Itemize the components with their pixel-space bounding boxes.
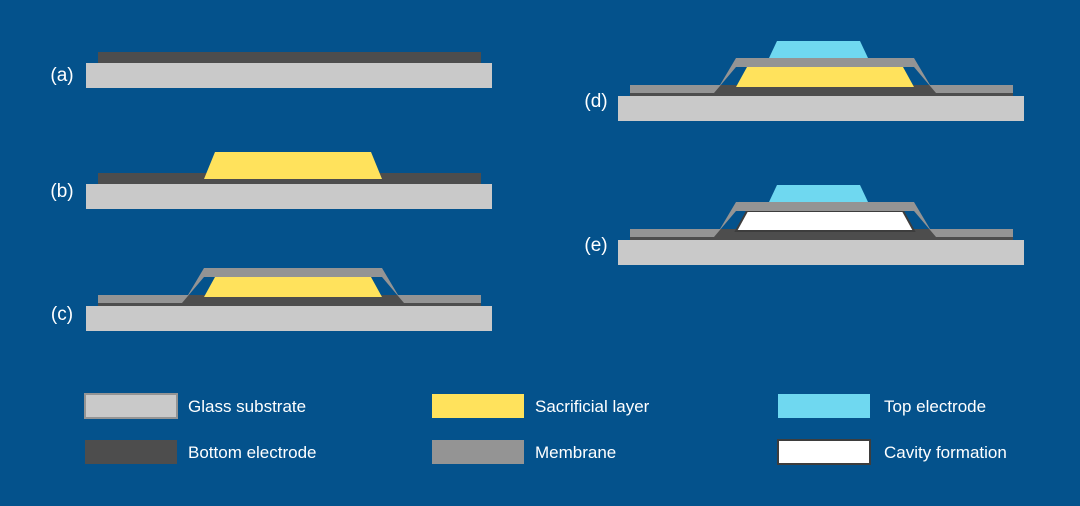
legend-label-2: Sacrificial layer	[535, 397, 650, 416]
legend-swatch-top-electrode	[778, 394, 870, 418]
legend-label-5: Cavity formation	[884, 443, 1007, 462]
layer-glass-substrate	[618, 240, 1024, 265]
layer-glass-substrate	[86, 184, 492, 209]
legend-swatch-glass-substrate	[85, 394, 177, 418]
panel-label-e: (e)	[584, 235, 607, 256]
figure-canvas: (a)(b)(c)(d)(e)Glass substrateBottom ele…	[0, 0, 1080, 506]
layer-cavity-formation	[736, 211, 914, 231]
legend-swatch-bottom-electrode	[85, 440, 177, 464]
layer-sacrificial-layer	[204, 152, 382, 179]
layer-sacrificial-layer	[204, 277, 382, 297]
layer-sacrificial-layer	[736, 67, 914, 87]
panel-label-a: (a)	[50, 65, 73, 86]
legend-item: Sacrificial layer	[432, 394, 650, 418]
panel-label-c: (c)	[51, 304, 73, 325]
legend-item: Cavity formation	[778, 440, 1007, 464]
process-flow-figure: (a)(b)(c)(d)(e)Glass substrateBottom ele…	[0, 0, 1080, 506]
panel-label-d: (d)	[584, 91, 607, 112]
layer-top-electrode	[769, 41, 868, 58]
legend-swatch-sacrificial-layer	[432, 394, 524, 418]
legend-label-3: Membrane	[535, 443, 616, 462]
panel-a: (a)	[50, 52, 492, 88]
layer-glass-substrate	[86, 63, 492, 88]
legend-swatch-membrane	[432, 440, 524, 464]
layer-top-electrode	[769, 185, 868, 202]
legend-label-4: Top electrode	[884, 397, 986, 416]
legend-item: Bottom electrode	[85, 440, 317, 464]
legend-swatch-cavity	[778, 440, 870, 464]
layer-glass-substrate	[618, 96, 1024, 121]
legend-label-1: Bottom electrode	[188, 443, 317, 462]
layer-bottom-electrode	[98, 52, 481, 63]
legend-item: Glass substrate	[85, 394, 306, 418]
panel-label-b: (b)	[50, 181, 73, 202]
layer-glass-substrate	[86, 306, 492, 331]
legend-label-0: Glass substrate	[188, 397, 306, 416]
